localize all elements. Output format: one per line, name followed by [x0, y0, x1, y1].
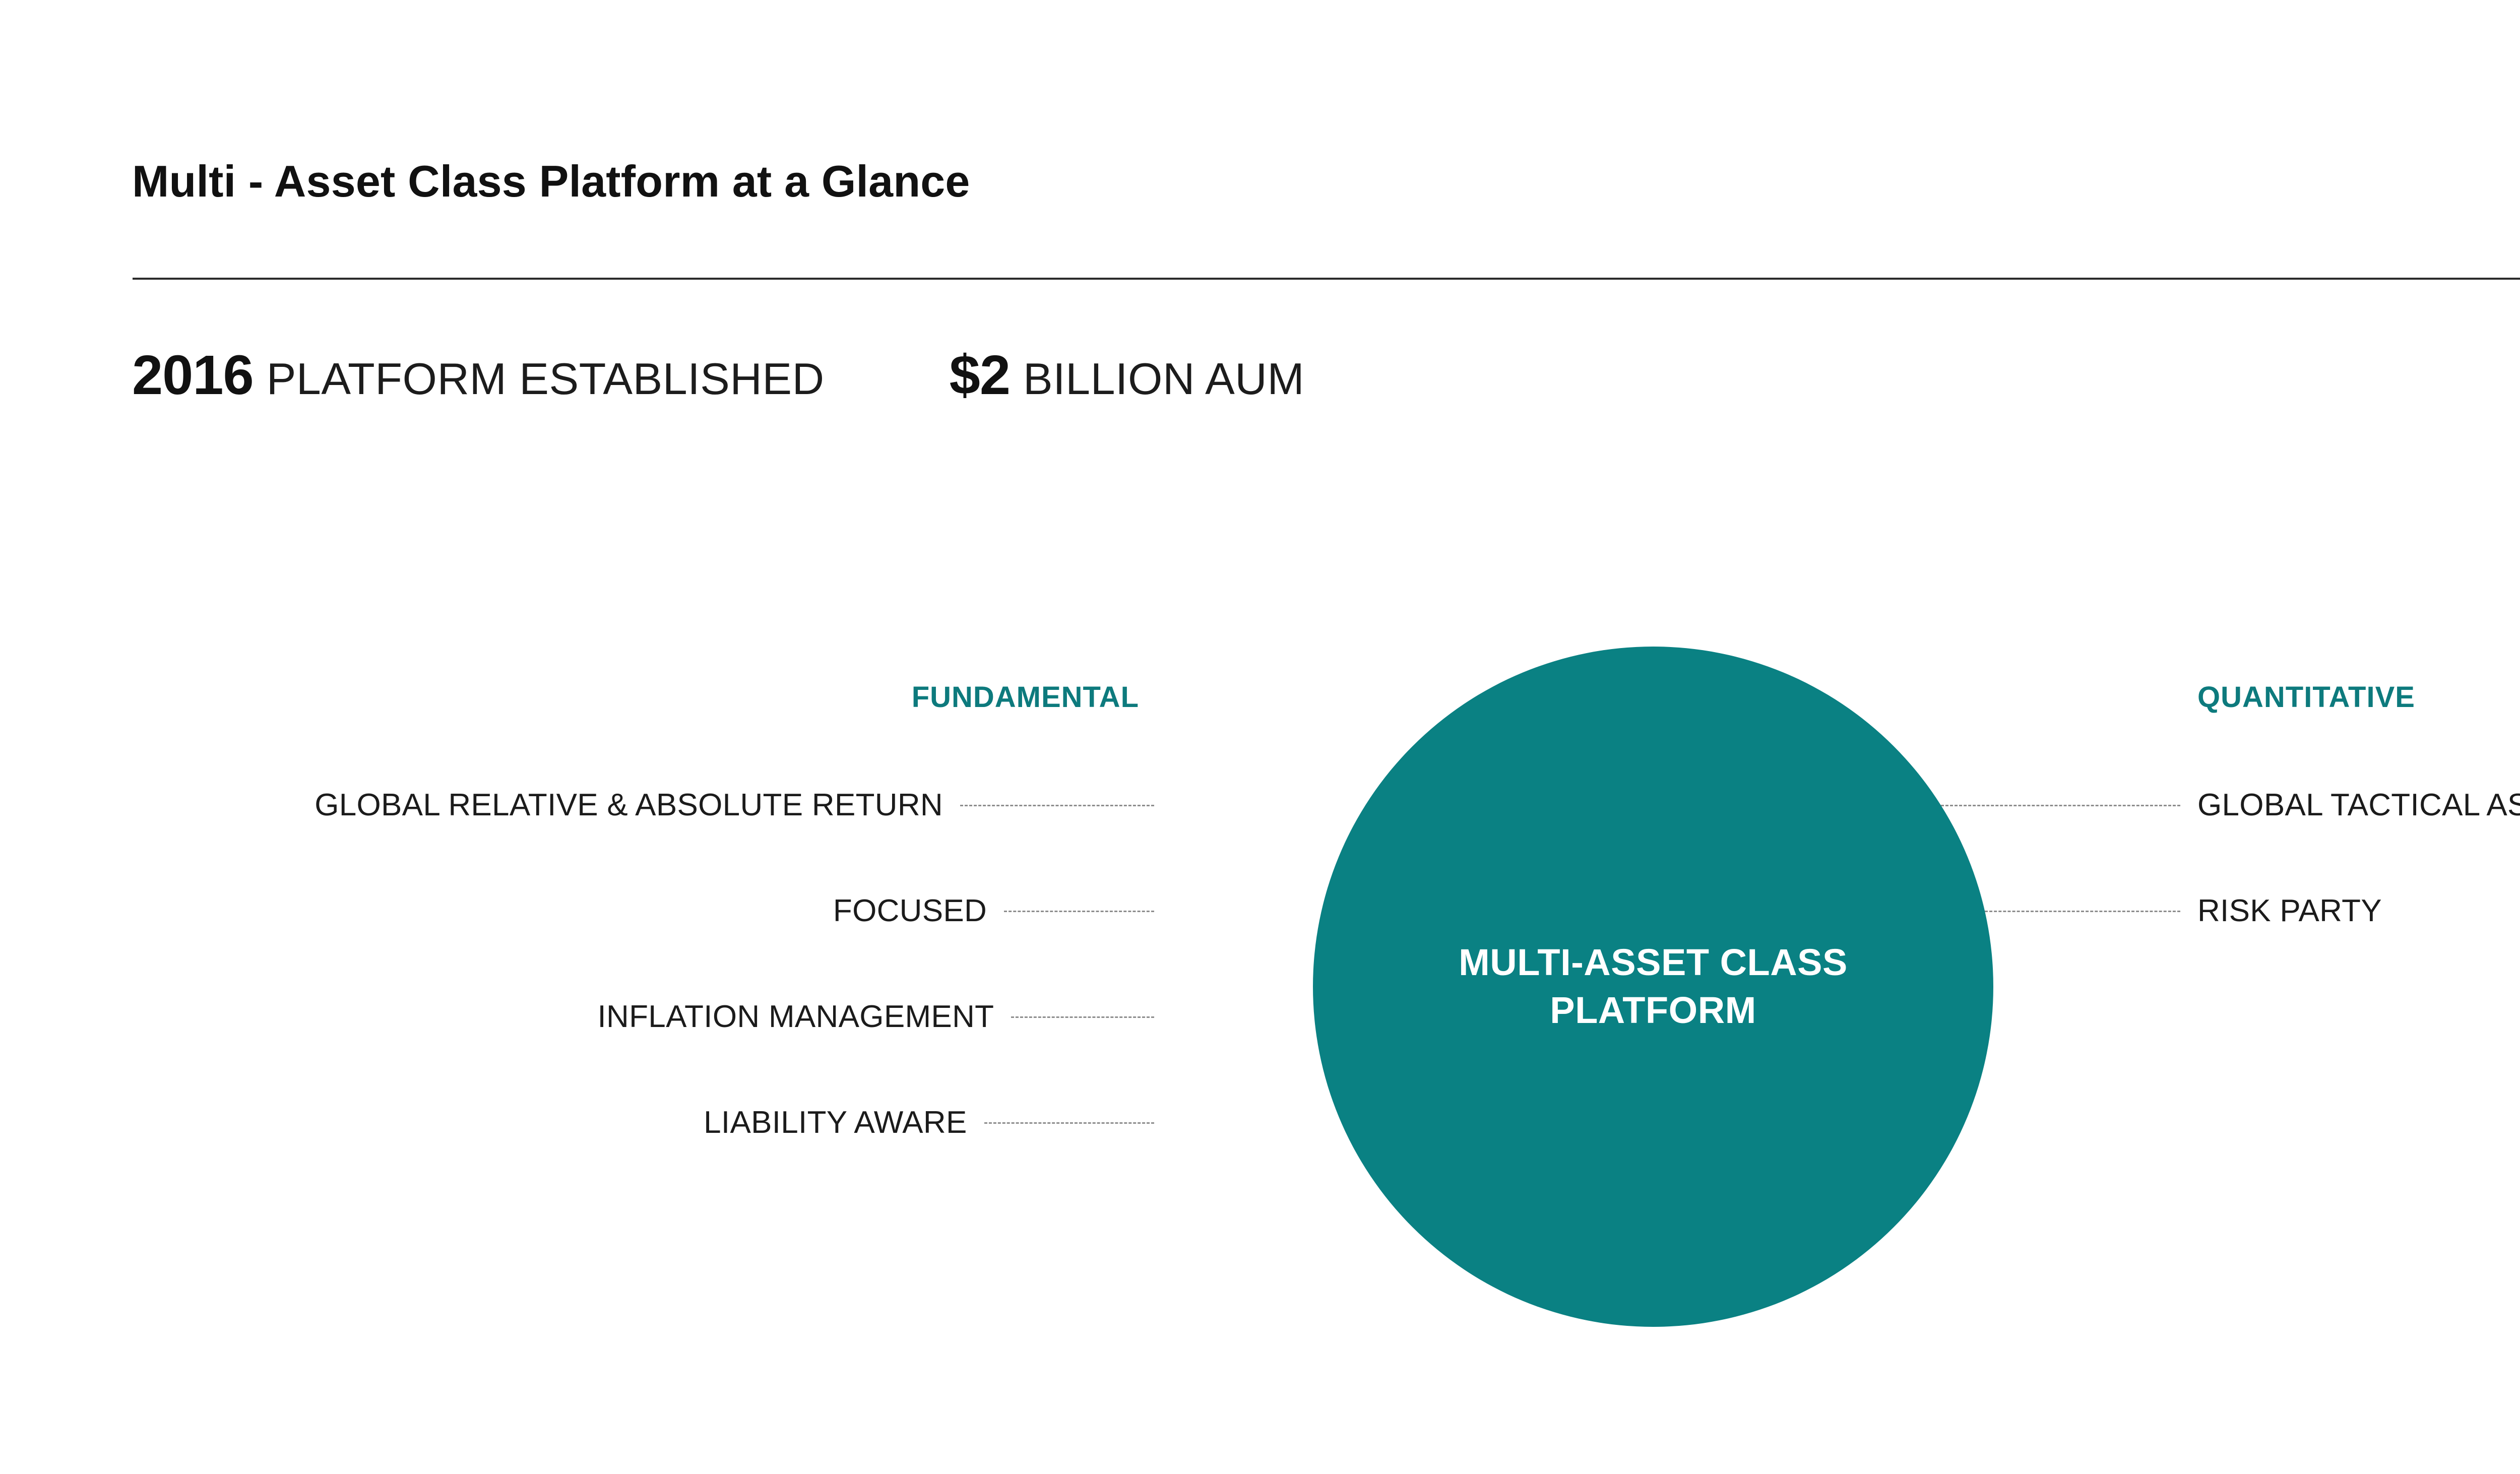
connector-line — [1011, 1016, 1154, 1018]
spoke-focused: FOCUSED — [833, 893, 1154, 929]
spoke-global-tactical-asset-allocation: GLOBAL TACTICAL ASSET ALLOCATION — [1941, 787, 2520, 823]
spoke-label: GLOBAL RELATIVE & ABSOLUTE RETURN — [314, 790, 943, 821]
connector-line — [1941, 805, 2180, 806]
spoke-liability-aware: LIABILITY AWARE — [704, 1105, 1154, 1141]
spoke-inflation-management: INFLATION MANAGEMENT — [598, 999, 1154, 1035]
connector-line — [984, 1122, 1154, 1124]
connector-line — [960, 805, 1154, 806]
spoke-label: FOCUSED — [833, 895, 987, 927]
connector-line — [1985, 911, 2180, 912]
connector-line — [1004, 911, 1154, 912]
spoke-label: INFLATION MANAGEMENT — [598, 1001, 994, 1033]
column-heading-fundamental: FUNDAMENTAL — [912, 683, 1139, 712]
hub-circle: MULTI-ASSET CLASS PLATFORM — [1313, 647, 1993, 1327]
column-heading-quantitative: QUANTITATIVE — [2197, 683, 2415, 712]
spoke-risk-party: RISK PARTY — [1985, 893, 2382, 929]
platform-diagram: FUNDAMENTAL QUANTITATIVE GLOBAL RELATIVE… — [0, 0, 2520, 1474]
hub-label: MULTI-ASSET CLASS PLATFORM — [1459, 939, 1848, 1034]
spoke-label: LIABILITY AWARE — [704, 1107, 967, 1138]
spoke-label: RISK PARTY — [2197, 895, 2382, 927]
spoke-label: GLOBAL TACTICAL ASSET ALLOCATION — [2197, 790, 2520, 821]
spoke-global-relative-absolute-return: GLOBAL RELATIVE & ABSOLUTE RETURN — [314, 787, 1154, 823]
